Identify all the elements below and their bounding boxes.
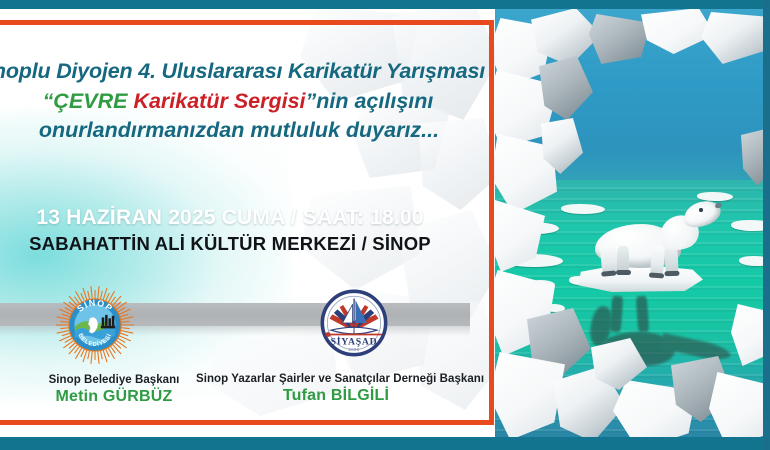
headline-word-cevre: “ÇEVRE [43,89,128,113]
siyasad-mast [353,299,354,325]
polar-bear [587,200,722,278]
bear-paw [601,270,616,276]
bear-eye [699,208,703,212]
poster-canvas: Sinoplu Diyojen 4. Uluslararası Karikatü… [0,0,770,450]
headline-word-karikatur-sergisi: Karikatür Sergisi [127,89,305,113]
right-teal-border [763,0,770,450]
top-teal-border [0,0,770,9]
bear-hind-leg-2 [617,246,629,273]
polar-bear-artwork [495,8,770,437]
siyasad-red-dot [326,332,331,337]
bear-snout [714,202,722,209]
bear-front-leg [650,246,665,277]
bear-paw [649,272,664,278]
sinop-belediyesi-logo-svg: SİNOP BELEDİYESİ [53,283,137,367]
bear-paw [664,271,679,277]
signature-block-left: Sinop Belediye Başkanı Metin GÜRBÜZ [14,374,214,406]
siyasad-year: 2008 [348,347,359,352]
siyasad-logo: SİYAŞAD 2008 [318,287,390,359]
reflection-leg [636,296,649,333]
signature-title: Sinop Yazarlar Şairler ve Sanatçılar Der… [196,373,476,385]
event-date-time: 13 HAZİRAN 2025 CUMA / SAAT: 18.00 [0,206,460,230]
reflection-tail [660,333,732,363]
sinop-belediyesi-logo: SİNOP BELEDİYESİ [53,283,137,367]
signature-name: Metin GÜRBÜZ [14,388,214,406]
headline-line-3: onurlandırmanızdan mutluluk duyarız... [0,117,492,145]
bear-paw [616,270,631,275]
bottom-teal-border [0,437,770,450]
signature-name: Tufan BİLGİLİ [196,387,476,405]
headline-line-2: “ÇEVRE Karikatür Sergisi”nin açılışını [0,88,492,116]
headline-block: Sinoplu Diyojen 4. Uluslararası Karikatü… [0,58,492,145]
event-venue: SABAHATTİN ALİ KÜLTÜR MERKEZİ / SİNOP [0,233,460,255]
signature-block-right: Sinop Yazarlar Şairler ve Sanatçılar Der… [196,373,476,405]
headline-line-1: Sinoplu Diyojen 4. Uluslararası Karikatü… [0,58,492,86]
reflection-leg [610,296,623,333]
siyasad-wordmark: SİYAŞAD [331,336,378,348]
signature-title: Sinop Belediye Başkanı [14,374,214,386]
bear-hind-leg [600,243,619,274]
headline-line-2-tail: ”nin açılışını [306,89,434,113]
siyasad-logo-svg: SİYAŞAD 2008 [318,287,390,359]
